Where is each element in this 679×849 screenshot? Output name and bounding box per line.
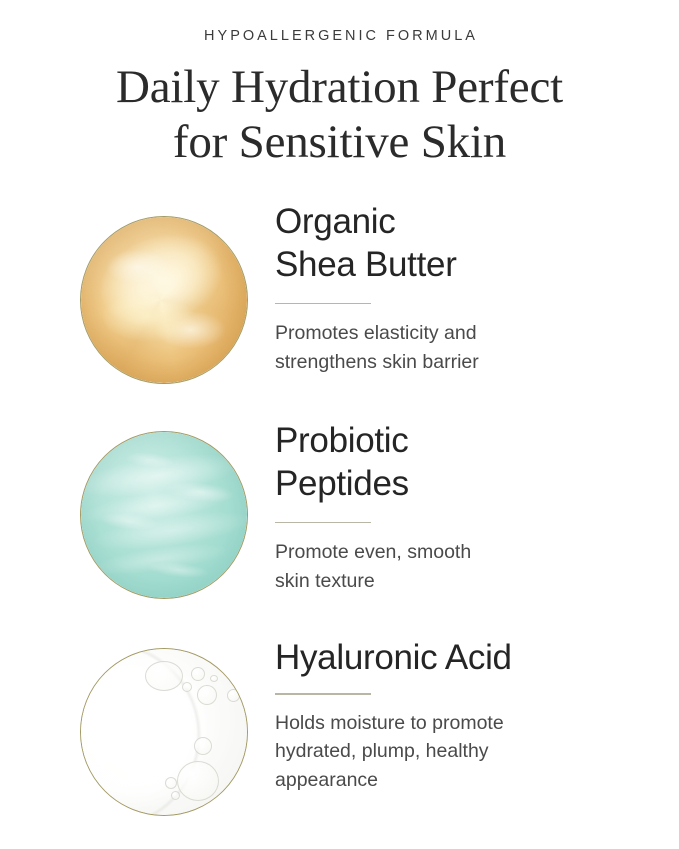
ingredient-description: Promotes elasticity and strengthens skin… — [275, 319, 655, 376]
ingredient-title: Hyaluronic Acid — [275, 636, 655, 679]
ingredient-list: Organic Shea Butter Promotes elasticity … — [0, 198, 679, 832]
ingredient-desc-line-1: Promotes elasticity and — [275, 319, 655, 347]
headline-line-1: Daily Hydration Perfect — [0, 60, 679, 115]
serum-shading-layer — [81, 649, 247, 815]
ingredient-desc-line-2: hydrated, plump, healthy — [275, 737, 655, 765]
ingredient-title-line-1: Hyaluronic Acid — [275, 636, 655, 679]
eyebrow-text: HYPOALLERGENIC FORMULA — [0, 28, 679, 44]
ingredient-row: Probiotic Peptides Promote even, smooth … — [0, 413, 679, 628]
ingredient-description: Promote even, smooth skin texture — [275, 538, 655, 595]
shea-shading-layer — [81, 217, 247, 383]
ingredient-title-line-1: Organic — [275, 200, 655, 243]
product-ingredients-infographic: HYPOALLERGENIC FORMULA Daily Hydration P… — [0, 0, 679, 849]
page-title: Daily Hydration Perfect for Sensitive Sk… — [0, 60, 679, 171]
headline-line-2: for Sensitive Skin — [0, 115, 679, 170]
hyaluronic-acid-swatch — [80, 648, 248, 816]
title-divider — [275, 693, 371, 695]
ingredient-row: Hyaluronic Acid Holds moisture to promot… — [0, 628, 679, 832]
title-divider — [275, 522, 371, 524]
probiotic-peptides-swatch — [80, 431, 248, 599]
ingredient-desc-line-3: appearance — [275, 766, 655, 794]
ingredient-info: Probiotic Peptides Promote even, smooth … — [275, 419, 655, 595]
ingredient-desc-line-2: skin texture — [275, 567, 655, 595]
ingredient-info: Hyaluronic Acid Holds moisture to promot… — [275, 636, 655, 794]
ingredient-desc-line-2: strengthens skin barrier — [275, 348, 655, 376]
gel-shading-layer — [81, 432, 247, 598]
ingredient-desc-line-1: Promote even, smooth — [275, 538, 655, 566]
ingredient-title-line-2: Peptides — [275, 462, 655, 505]
ingredient-title-line-1: Probiotic — [275, 419, 655, 462]
ingredient-desc-line-1: Holds moisture to promote — [275, 709, 655, 737]
ingredient-row: Organic Shea Butter Promotes elasticity … — [0, 198, 679, 413]
ingredient-description: Holds moisture to promote hydrated, plum… — [275, 709, 655, 794]
ingredient-title-line-2: Shea Butter — [275, 243, 655, 286]
ingredient-info: Organic Shea Butter Promotes elasticity … — [275, 200, 655, 376]
title-divider — [275, 303, 371, 305]
shea-butter-swatch — [80, 216, 248, 384]
header: HYPOALLERGENIC FORMULA Daily Hydration P… — [0, 0, 679, 171]
ingredient-title: Organic Shea Butter — [275, 200, 655, 287]
ingredient-title: Probiotic Peptides — [275, 419, 655, 506]
